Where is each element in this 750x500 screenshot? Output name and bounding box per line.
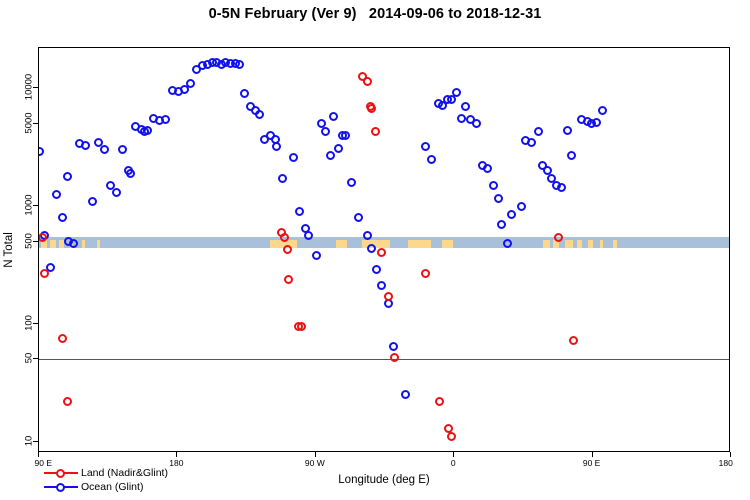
data-point [592, 118, 601, 127]
data-point [235, 60, 244, 69]
data-point [554, 233, 563, 242]
data-point [63, 172, 72, 181]
x-tick-mark [730, 452, 731, 457]
data-point [40, 269, 49, 278]
chart-legend: Land (Nadir&Glint)Ocean (Glint) [44, 466, 168, 494]
data-point [354, 213, 363, 222]
data-point [272, 142, 281, 151]
x-tick-label: 0 [451, 458, 456, 468]
data-point [280, 233, 289, 242]
data-point [503, 239, 512, 248]
data-point [81, 141, 90, 150]
y-tick-label: 5000 [24, 112, 35, 133]
data-point [377, 248, 386, 257]
world-map-band [39, 237, 729, 248]
data-point [240, 89, 249, 98]
data-point [329, 112, 338, 121]
data-point [421, 142, 430, 151]
plot-clip [39, 48, 729, 451]
y-tick-label: 100 [24, 315, 35, 331]
data-point [569, 336, 578, 345]
data-point [367, 244, 376, 253]
landmass-segment [336, 240, 347, 248]
x-tick-mark [453, 452, 454, 457]
landmass-segment [408, 240, 431, 248]
data-point [557, 183, 566, 192]
data-point [563, 126, 572, 135]
x-tick-mark [38, 452, 39, 457]
data-point [367, 104, 376, 113]
data-point [527, 138, 536, 147]
data-point [88, 197, 97, 206]
y-tick-label: 10000 [24, 74, 35, 100]
y-tick-label: 500 [24, 233, 35, 249]
data-point [489, 181, 498, 190]
legend-marker [44, 481, 78, 493]
data-point [347, 178, 356, 187]
data-point [297, 322, 306, 331]
data-point [52, 190, 61, 199]
data-point [447, 432, 456, 441]
data-point [507, 210, 516, 219]
data-point [435, 397, 444, 406]
data-point [39, 147, 44, 156]
data-point [63, 397, 72, 406]
data-point [143, 126, 152, 135]
data-point [598, 106, 607, 115]
data-point [457, 114, 466, 123]
x-tick-label: 90 W [305, 458, 325, 468]
data-point [326, 151, 335, 160]
y-axis-title-label: N Total [3, 232, 15, 268]
data-point [389, 342, 398, 351]
data-point [363, 231, 372, 240]
data-point [401, 390, 410, 399]
landmass-segment [565, 240, 573, 248]
y-tick-label: 1000 [24, 194, 35, 215]
data-point [289, 153, 298, 162]
data-point [517, 202, 526, 211]
landmass-segment [543, 240, 549, 248]
x-tick-label: 180 [719, 458, 733, 468]
plot-area [38, 47, 730, 452]
legend-label: Land (Nadir&Glint) [81, 467, 168, 479]
data-point [100, 145, 109, 154]
data-point [497, 220, 506, 229]
x-tick-mark [315, 452, 316, 457]
data-point [372, 265, 381, 274]
data-point [112, 188, 121, 197]
data-point [421, 269, 430, 278]
landmass-segment [588, 240, 593, 248]
data-point [126, 169, 135, 178]
data-point [58, 334, 67, 343]
y-axis-title: N Total [2, 47, 16, 452]
data-point [58, 213, 67, 222]
y-tick-label: 10 [24, 435, 35, 446]
data-point [161, 115, 170, 124]
data-point [118, 145, 127, 154]
legend-marker [44, 467, 78, 479]
data-point [472, 119, 481, 128]
data-point [567, 151, 576, 160]
data-point [186, 79, 195, 88]
landmass-segment [613, 240, 618, 248]
landmass-segment [442, 240, 453, 248]
data-point [534, 127, 543, 136]
data-point [284, 275, 293, 284]
y-tick-label: 50 [24, 353, 35, 364]
chart-title: 0-5N February (Ver 9) 2014-09-06 to 2018… [0, 6, 750, 22]
data-point [494, 194, 503, 203]
data-point [483, 164, 492, 173]
data-point [295, 207, 304, 216]
x-tick-label: 90 E [583, 458, 601, 468]
data-point [255, 110, 264, 119]
x-tick-mark [176, 452, 177, 457]
data-point [371, 127, 380, 136]
data-point [312, 251, 321, 260]
data-point [334, 144, 343, 153]
legend-item: Ocean (Glint) [44, 480, 168, 494]
data-point [283, 245, 292, 254]
data-point [461, 102, 470, 111]
legend-label: Ocean (Glint) [81, 481, 143, 493]
landmass-segment [600, 240, 603, 248]
x-tick-mark [592, 452, 593, 457]
landmass-segment [50, 240, 56, 248]
data-point [390, 353, 399, 362]
data-point [377, 281, 386, 290]
data-point [321, 127, 330, 136]
chart-figure: 0-5N February (Ver 9) 2014-09-06 to 2018… [0, 0, 750, 500]
reference-line-50 [39, 359, 729, 360]
data-point [278, 174, 287, 183]
landmass-segment [97, 240, 100, 248]
landmass-segment [577, 240, 582, 248]
data-point [427, 155, 436, 164]
legend-item: Land (Nadir&Glint) [44, 466, 168, 480]
landmass-segment [82, 240, 85, 248]
data-point [363, 77, 372, 86]
data-point [341, 131, 350, 140]
data-point [452, 88, 461, 97]
x-tick-label: 180 [169, 458, 183, 468]
